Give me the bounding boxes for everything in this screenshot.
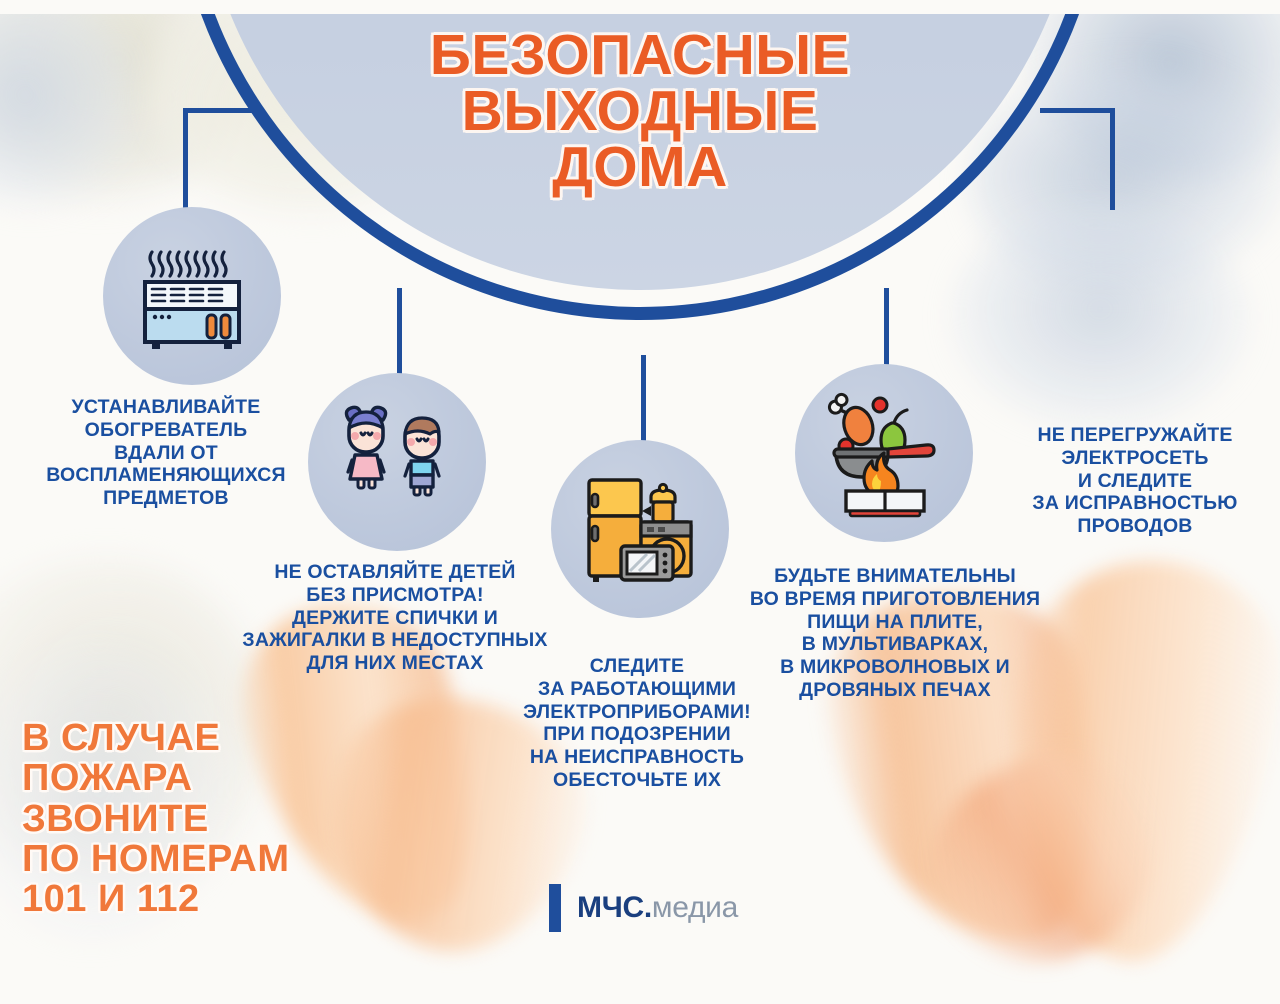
tip-text-wiring: НЕ ПЕРЕГРУЖАЙТЕ ЭЛЕКТРОСЕТЬ И СЛЕДИТЕ ЗА… bbox=[1010, 424, 1260, 538]
icon-circle-children bbox=[308, 373, 486, 551]
page-title: БЕЗОПАСНЫЕ ВЫХОДНЫЕ ДОМА bbox=[330, 28, 950, 196]
emergency-call-text: В СЛУЧАЕ ПОЖАРА ЗВОНИТЕ ПО НОМЕРАМ 101 И… bbox=[22, 718, 322, 919]
icon-circle-cooking bbox=[795, 364, 973, 542]
logo-bar-icon bbox=[549, 884, 561, 932]
logo-text: МЧС.медиа bbox=[577, 891, 738, 925]
connector-line-cooking-vertical bbox=[884, 288, 889, 368]
logo-suffix-text: медиа bbox=[652, 891, 738, 924]
logo[interactable]: МЧС.медиа bbox=[549, 884, 738, 932]
orange-brushstroke-right-3 bbox=[895, 716, 1194, 1004]
connector-line-wiring-vertical bbox=[1110, 108, 1115, 210]
heater-icon bbox=[128, 232, 256, 360]
connector-line-children-vertical bbox=[397, 288, 402, 384]
children-icon bbox=[331, 400, 463, 524]
icon-circle-heater bbox=[103, 207, 281, 385]
watercolor-wash-right-mid bbox=[950, 210, 1250, 430]
icon-circle-appliances bbox=[551, 440, 729, 618]
appliances-icon bbox=[575, 464, 705, 594]
tip-text-cooking: БУДЬТЕ ВНИМАТЕЛЬНЫ ВО ВРЕМЯ ПРИГОТОВЛЕНИ… bbox=[740, 565, 1050, 702]
watercolor-wash-top-left-blue bbox=[0, 0, 140, 210]
logo-dot: . bbox=[644, 891, 652, 924]
infographic-poster: БЕЗОПАСНЫЕ ВЫХОДНЫЕ ДОМА bbox=[0, 0, 1280, 950]
connector-line-heater-vertical bbox=[183, 108, 188, 212]
frying-pan-fire-icon bbox=[814, 383, 954, 523]
tip-text-heater: УСТАНАВЛИВАЙТЕ ОБОГРЕВАТЕЛЬ ВДАЛИ ОТ ВОС… bbox=[36, 396, 296, 510]
logo-main-text: МЧС bbox=[577, 891, 644, 924]
connector-line-wiring-horizontal bbox=[1040, 108, 1115, 113]
connector-line-appliances-vertical bbox=[641, 355, 646, 450]
connector-line-heater-horizontal bbox=[183, 108, 258, 113]
arc-top-mask bbox=[0, 0, 1280, 14]
